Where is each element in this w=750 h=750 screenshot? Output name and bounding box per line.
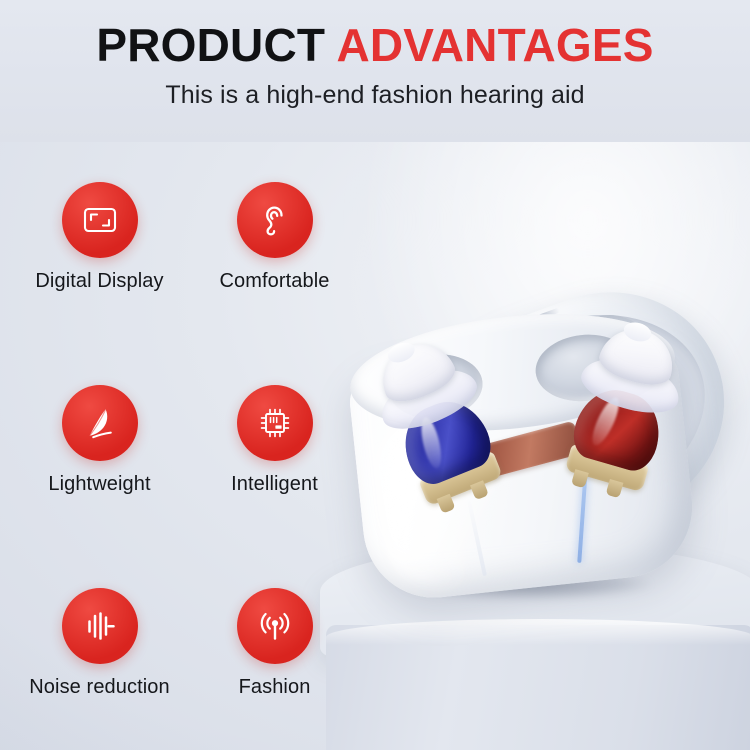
feature-item-fashion[interactable]: Fashion [187,588,362,699]
feature-list: Digital Display Comfortable [12,182,362,699]
feature-item-comfortable[interactable]: Comfortable [187,182,362,293]
title-word-product: PRODUCT [96,19,325,71]
charging-case [342,294,700,612]
page-title: PRODUCT ADVANTAGES [0,0,750,69]
feature-icon-badge [237,385,313,461]
feature-row-1: Digital Display Comfortable [12,182,362,293]
sound-wave-icon [80,606,120,646]
hearing-aid-red-pin-right [606,479,624,498]
broadcast-signal-icon [255,606,295,646]
feature-label: Noise reduction [12,676,187,699]
feature-item-intelligent[interactable]: Intelligent [187,385,362,496]
product-advantages-poster: PRODUCT ADVANTAGES This is a high-end fa… [0,0,750,750]
title-word-advantages: ADVANTAGES [336,19,653,71]
row-spacer [12,293,362,385]
feature-label: Fashion [187,676,362,699]
feature-icon-badge [237,588,313,664]
feature-label: Intelligent [187,473,362,496]
feather-icon [80,403,120,443]
page-subtitle: This is a high-end fashion hearing aid [0,69,750,110]
display-icon [80,200,120,240]
product-scene [330,150,750,750]
row-spacer [12,496,362,588]
feature-label: Lightweight [12,473,187,496]
feature-label: Comfortable [187,270,362,293]
feature-icon-badge [62,385,138,461]
feature-item-noise-reduction[interactable]: Noise reduction [12,588,187,699]
feature-icon-badge [62,182,138,258]
cpu-chip-icon [255,403,295,443]
ear-icon [255,200,295,240]
feature-icon-badge [62,588,138,664]
feature-row-2: Lightweight [12,385,362,496]
feature-label: Digital Display [12,270,187,293]
feature-item-lightweight[interactable]: Lightweight [12,385,187,496]
feature-row-3: Noise reduction Fashion [12,588,362,699]
feature-icon-badge [237,182,313,258]
feature-item-digital-display[interactable]: Digital Display [12,182,187,293]
header-banner: PRODUCT ADVANTAGES This is a high-end fa… [0,0,750,142]
